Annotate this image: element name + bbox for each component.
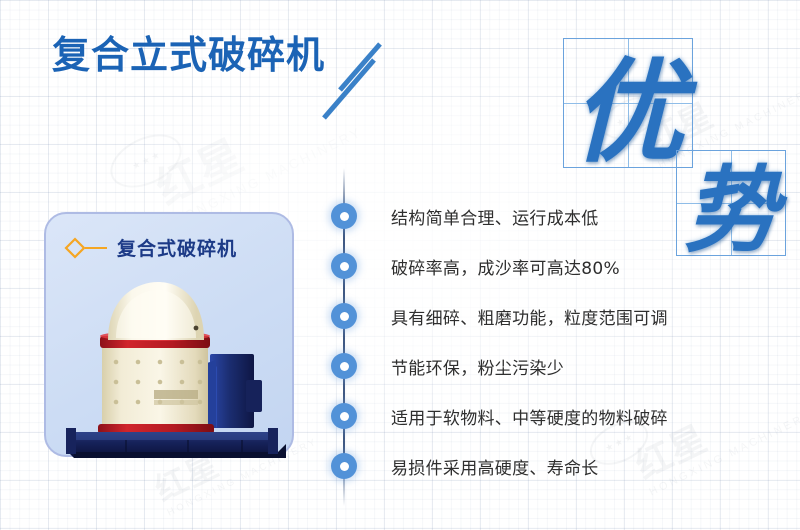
feature-item: 易损件采用高硬度、寿命长 (331, 451, 599, 481)
donut-bullet-icon (331, 203, 357, 229)
feature-item: 结构简单合理、运行成本低 (331, 201, 599, 231)
page-title: 复合立式破碎机 (52, 36, 325, 74)
feature-text: 破碎率高，成沙率可高达80% (391, 254, 620, 279)
product-card-label-row: 复合式破碎机 (64, 234, 237, 261)
feature-item: 适用于软物料、中等硬度的物料破碎 (331, 401, 668, 431)
feature-text: 结构简单合理、运行成本低 (391, 204, 599, 229)
calligraphy-box-you: 优 (563, 38, 693, 168)
crusher-machine-image (40, 262, 308, 467)
feature-text: 易损件采用高硬度、寿命长 (391, 454, 599, 479)
product-card-label: 复合式破碎机 (117, 234, 237, 261)
page-title-block: 复合立式破碎机 (52, 36, 325, 74)
donut-bullet-icon (331, 253, 357, 279)
diamond-icon (64, 237, 86, 259)
feature-item: 具有细碎、粗磨功能，粒度范围可调 (331, 301, 668, 331)
title-slash-decoration (310, 32, 400, 124)
calligraphy-char-you: 优 (564, 39, 692, 167)
donut-bullet-icon (331, 453, 357, 479)
feature-timeline: 结构简单合理、运行成本低 破碎率高，成沙率可高达80% 具有细碎、粗磨功能，粒度… (331, 168, 791, 508)
feature-text: 节能环保，粉尘污染少 (391, 354, 564, 379)
feature-text: 适用于软物料、中等硬度的物料破碎 (391, 404, 668, 429)
feature-item: 节能环保，粉尘污染少 (331, 351, 564, 381)
donut-bullet-icon (331, 353, 357, 379)
donut-bullet-icon (331, 403, 357, 429)
product-card: 复合式破碎机 (44, 212, 294, 457)
feature-item: 破碎率高，成沙率可高达80% (331, 251, 620, 281)
donut-bullet-icon (331, 303, 357, 329)
feature-text: 具有细碎、粗磨功能，粒度范围可调 (391, 304, 668, 329)
diamond-connector-line (85, 247, 107, 249)
